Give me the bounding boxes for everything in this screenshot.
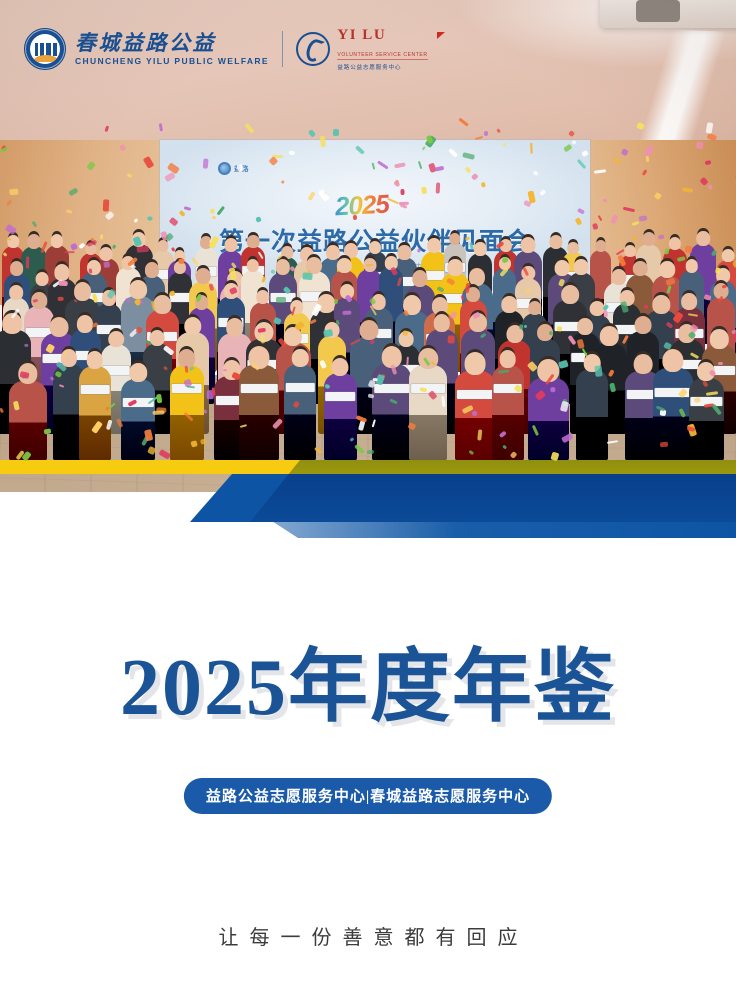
confetti-piece [549, 387, 555, 393]
crowd-person-head [669, 237, 681, 250]
confetti-piece [65, 251, 75, 253]
crowd-group [0, 246, 736, 461]
crowd-person-head [87, 351, 104, 369]
crowd-person-head [158, 240, 169, 252]
crowd-person [455, 371, 495, 461]
confetti-piece [24, 344, 28, 347]
crowd-person-head [710, 329, 728, 349]
crowd-person-head [474, 242, 486, 255]
crowd-person-head [369, 241, 381, 254]
confetti-piece [102, 199, 109, 211]
crowd-person-head [74, 282, 92, 301]
confetti-piece [530, 143, 533, 154]
confetti-piece [483, 131, 487, 136]
crowd-person-head [276, 259, 290, 274]
confetti-piece [203, 158, 209, 168]
header-logo-bar: 春城益路公益 CHUNCHENG YILU PUBLIC WELFARE YI … [24, 26, 447, 72]
crowd-person [689, 378, 724, 461]
crowd-person-head [653, 295, 670, 314]
backdrop-logo-icon [218, 162, 231, 175]
confetti-piece [302, 273, 313, 281]
confetti-piece [137, 246, 149, 253]
crowd-person [576, 369, 608, 461]
crowd-person-head [247, 235, 260, 248]
crowd-person-head [398, 245, 411, 259]
crowd-person-head [624, 245, 636, 258]
crowd-person [653, 368, 694, 461]
confetti-piece [602, 198, 606, 202]
logo-yilu-en-sub: VOLUNTEER SERVICE CENTER [337, 52, 427, 61]
crowd-person-head [499, 350, 516, 368]
confetti-piece [186, 385, 194, 388]
crowd-person-head [433, 314, 449, 332]
crowd-person [79, 366, 111, 461]
logo-en-name: CHUNCHENG YILU PUBLIC WELFARE [75, 56, 269, 66]
organization-badge: 益路公益志愿服务中心|春城益路志愿服务中心 [184, 778, 552, 814]
crowd-person-head [36, 272, 49, 286]
confetti-piece [260, 334, 265, 344]
crowd-person-head [662, 349, 683, 372]
confetti-piece [27, 256, 30, 268]
crowd-person-head [359, 320, 378, 340]
crowd-person-head [28, 234, 41, 248]
crowd-person-head [326, 245, 340, 260]
crowd-person-head [722, 249, 735, 263]
crowd-person-head [145, 262, 159, 277]
confetti-piece [9, 188, 19, 195]
crowd-person-head [469, 268, 485, 285]
crowd-person-head [555, 260, 570, 276]
crowd-person-head [247, 259, 259, 272]
crowd-person-head [595, 240, 606, 252]
crowd-person-head [682, 293, 698, 310]
crowd-person-head [449, 233, 460, 245]
name-card [241, 384, 277, 393]
crowd-person-head [633, 261, 648, 277]
crowd-person-head [521, 237, 536, 253]
confetti-piece [401, 189, 405, 195]
crowd-person-head [337, 258, 351, 273]
confetti-piece [416, 248, 420, 253]
crowd-person-head [332, 358, 349, 376]
logo-yilu-text: YI LU VOLUNTEER SERVICE CENTER 益路公益志愿服务中… [337, 28, 427, 71]
crowd-person [492, 365, 524, 461]
confetti-piece [694, 397, 701, 403]
crowd-person-head [292, 349, 308, 367]
confetti-piece [696, 141, 704, 150]
crowd-person-head [465, 352, 486, 374]
crowd-person-head [50, 317, 69, 337]
crowd-person-head [130, 363, 148, 382]
crowd-person-head [447, 259, 463, 276]
crowd-person-head [184, 317, 201, 336]
crowd-person-head [281, 246, 293, 258]
red-flag-icon [437, 32, 447, 40]
crowd-person-head [432, 297, 448, 314]
crowd-person-head [600, 326, 618, 346]
crowd-person-head [413, 270, 428, 286]
confetti-piece [276, 297, 286, 303]
crowd-person-head [574, 259, 589, 275]
crowd-person-head [196, 268, 211, 284]
crowd-person-head [129, 280, 147, 299]
name-card [411, 384, 445, 393]
confetti-piece [99, 234, 103, 240]
crowd-person [409, 365, 447, 461]
crowd-person-head [344, 243, 358, 258]
confetti-piece [153, 410, 165, 414]
crowd-person-head [528, 301, 541, 315]
crowd-person-head [611, 269, 626, 286]
chuncheng-yilu-seal-icon [24, 28, 66, 70]
crowd-person-head [10, 285, 24, 300]
crowd-person-head [100, 247, 113, 261]
crowd-person-head [502, 296, 517, 313]
confetti-piece [421, 187, 427, 195]
crowd-person-head [568, 242, 580, 255]
confetti-piece [288, 150, 295, 155]
logo-yilu[interactable]: YI LU VOLUNTEER SERVICE CENTER 益路公益志愿服务中… [296, 28, 446, 71]
confetti-piece [519, 324, 524, 329]
logo-yilu-name: YI LU [337, 28, 427, 43]
confetti-piece [332, 129, 338, 136]
crowd-person [284, 364, 316, 461]
confetti-piece [58, 296, 64, 300]
confetti-piece [59, 281, 68, 286]
crowd-person-head [577, 318, 593, 335]
confetti-piece [594, 366, 602, 377]
logo-yilu-cn-sub: 益路公益志愿服务中心 [337, 63, 427, 71]
crowd-person-head [549, 235, 562, 249]
crowd-person-head [224, 238, 237, 252]
name-card [286, 383, 314, 392]
crowd-person-head [659, 261, 675, 278]
page-title: 2025年度年鉴 [0, 648, 736, 728]
logo-chuncheng-yilu[interactable]: 春城益路公益 CHUNCHENG YILU PUBLIC WELFARE [24, 28, 269, 70]
crowd-person-head [150, 330, 165, 346]
crowd-person-head [248, 346, 269, 369]
crowd-person [9, 381, 46, 461]
crowd-person-head [428, 238, 442, 253]
logo-divider [282, 31, 284, 67]
crowd-person-head [109, 331, 125, 348]
crowd-person-head [55, 264, 70, 280]
confetti-piece [718, 362, 723, 365]
crowd-person-head [642, 232, 655, 246]
backdrop-logo: 益路 [218, 162, 249, 175]
yilu-swirl-icon [296, 32, 330, 66]
crowd-person-head [154, 295, 171, 314]
confetti-piece [178, 259, 185, 264]
confetti-piece [333, 298, 338, 303]
annual-report-cover: 益路 2025 第一次益路公益伙伴见面会 春城益路公益志愿服务中心 春城益路公益… [0, 0, 736, 999]
confetti-piece [447, 336, 454, 344]
projector-icon [600, 0, 736, 28]
crowd-person-head [696, 231, 710, 246]
logo-chuncheng-yilu-text: 春城益路公益 CHUNCHENG YILU PUBLIC WELFARE [75, 32, 269, 66]
hero-photo: 益路 2025 第一次益路公益伙伴见面会 春城益路公益志愿服务中心 [0, 0, 736, 495]
crowd-person-head [635, 316, 652, 334]
backdrop-year: 2025 [334, 189, 389, 223]
logo-cn-name: 春城益路公益 [75, 32, 269, 54]
crowd-person-head [562, 285, 580, 304]
crowd-person-head [51, 234, 63, 247]
crowd-person [528, 378, 569, 461]
crowd-person [239, 365, 280, 461]
crowd-person-head [10, 261, 24, 276]
crowd-person-head [256, 290, 269, 305]
tagline: 让每一份善意都有回应 [0, 921, 736, 950]
crowd-person-head [685, 259, 698, 272]
crowd-person-head [226, 318, 244, 337]
confetti-piece [603, 310, 607, 317]
crowd-person-head [318, 294, 335, 313]
name-card [457, 390, 493, 399]
name-card [81, 385, 110, 394]
crowd-person-head [634, 354, 653, 374]
name-card [325, 392, 355, 401]
